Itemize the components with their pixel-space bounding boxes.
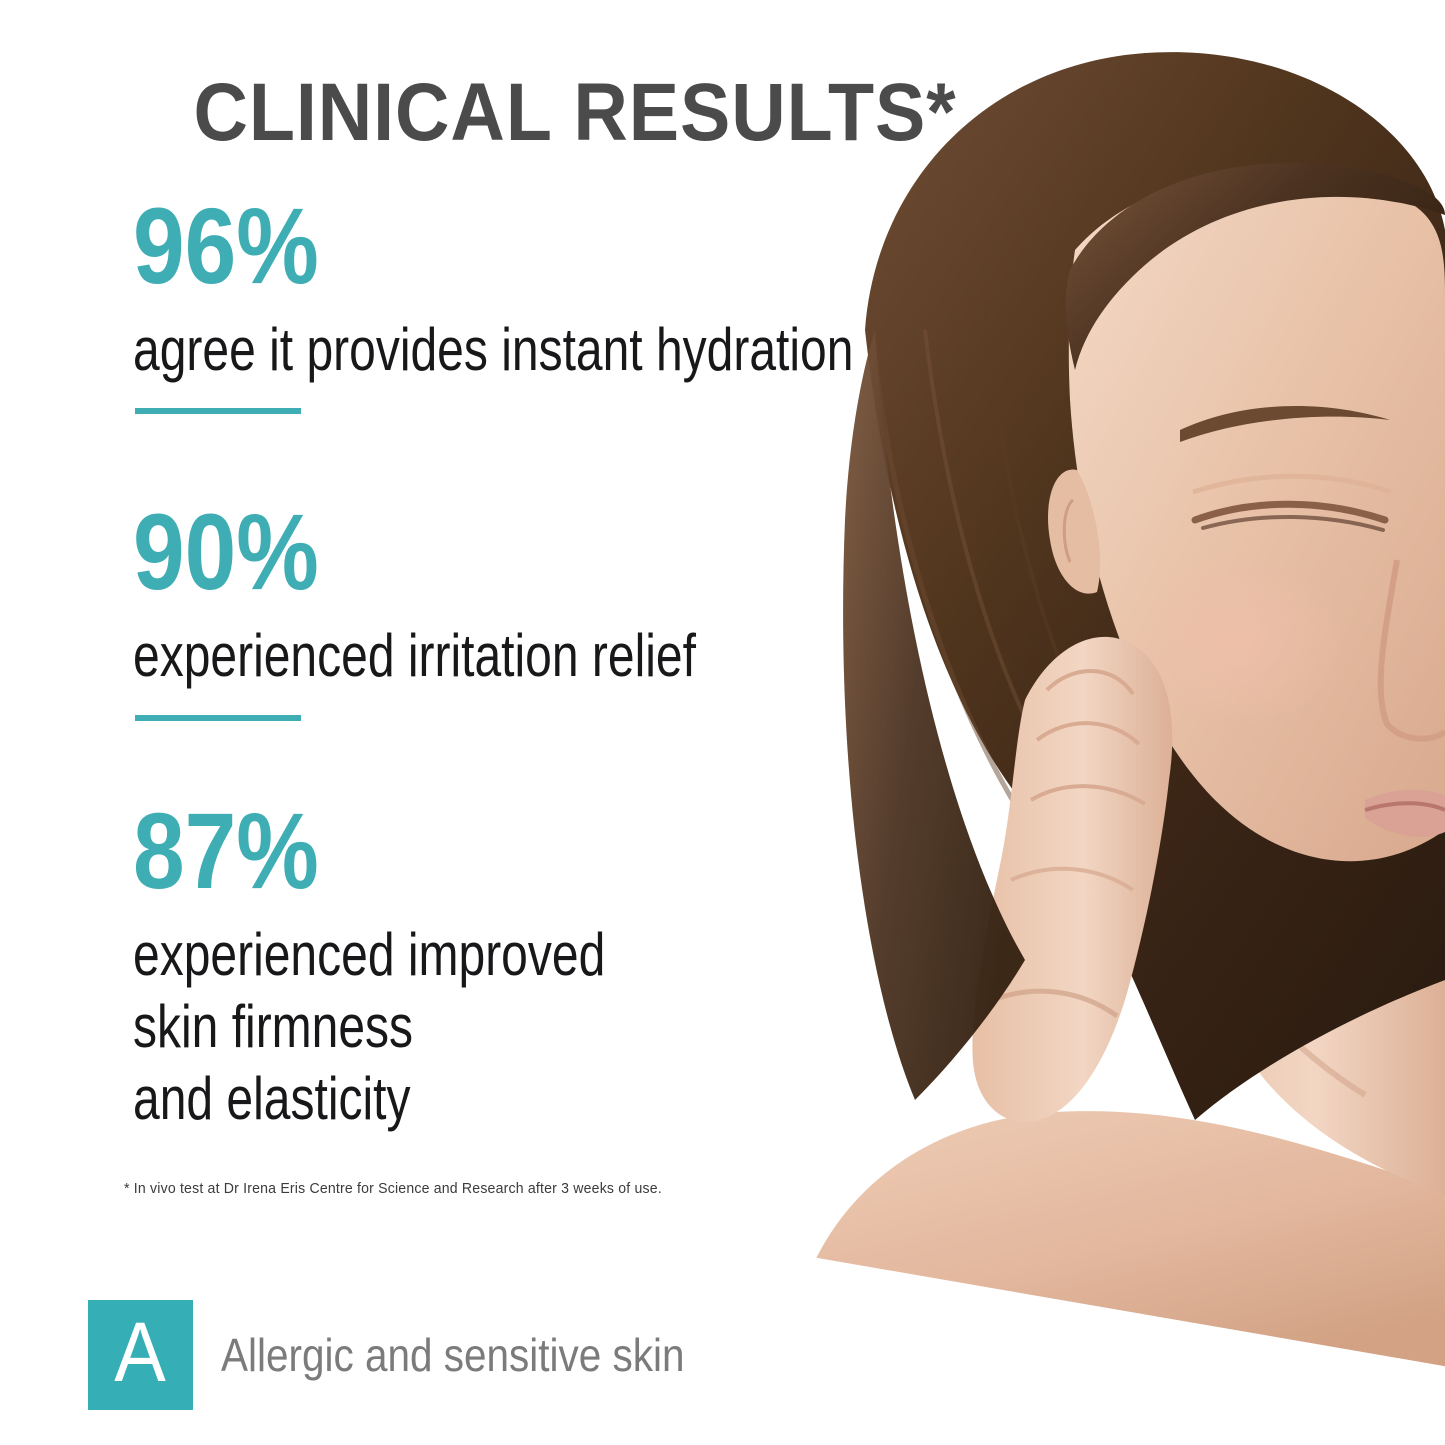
stat-percent-1: 96% [133, 192, 907, 300]
stat-block-2: 90% experienced irritation relief [133, 498, 837, 692]
stat-block-1: 96% agree it provides instant hydration [133, 192, 1034, 386]
stat-percent-3: 87% [133, 797, 641, 905]
divider-1 [135, 408, 301, 414]
page-title: CLINICAL RESULTS* [46, 66, 1104, 160]
stat-block-3: 87% experienced improved skin firmness a… [133, 797, 723, 1135]
stat-description-3: experienced improved skin firmness and e… [133, 919, 605, 1135]
badge-square: A [88, 1300, 193, 1410]
badge-letter: A [115, 1310, 167, 1394]
stat-description-2: experienced irritation relief [133, 620, 696, 692]
clinical-results-infographic: CLINICAL RESULTS* 96% agree it provides … [0, 0, 1445, 1445]
allergic-skin-badge: A Allergic and sensitive skin [88, 1300, 748, 1410]
stat-percent-2: 90% [133, 498, 738, 606]
divider-2 [135, 715, 301, 721]
badge-label: Allergic and sensitive skin [221, 1328, 684, 1382]
stat-description-1: agree it provides instant hydration [133, 314, 853, 386]
footnote-text: * In vivo test at Dr Irena Eris Centre f… [124, 1180, 662, 1197]
